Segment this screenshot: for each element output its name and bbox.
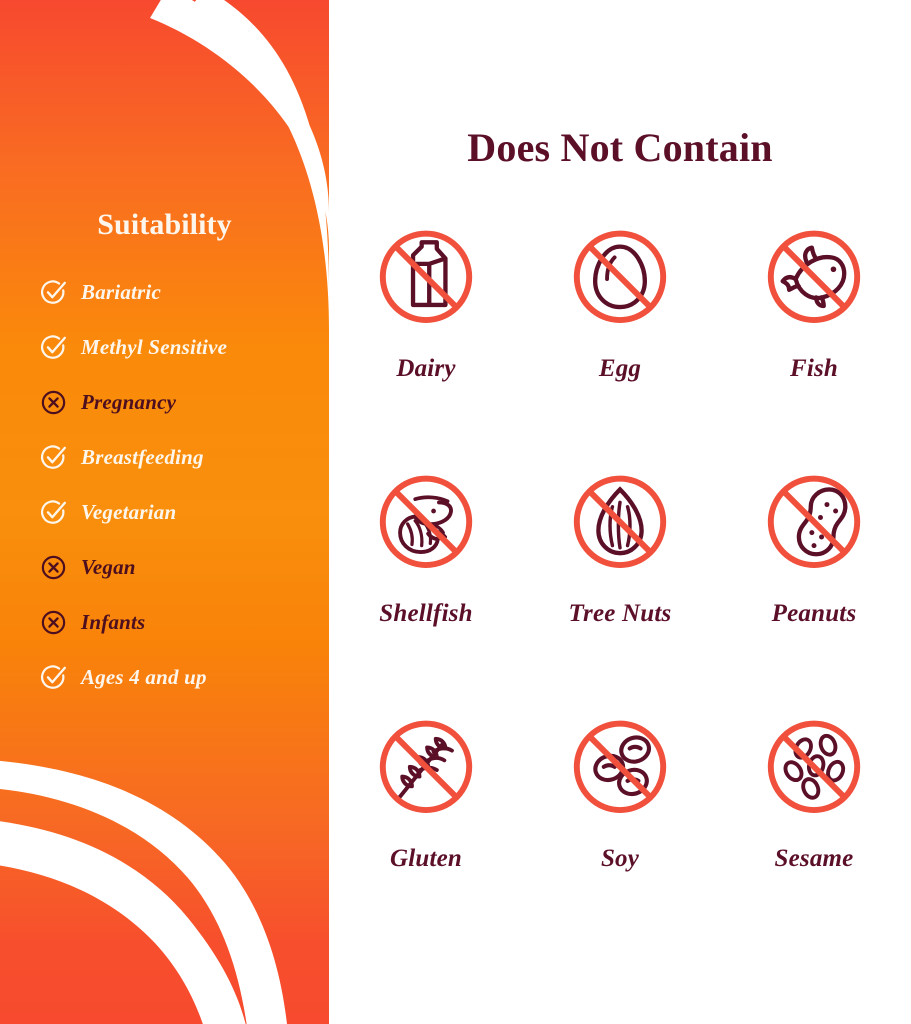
suitability-item-ages-4-and-up: Ages 4 and up [40,650,329,705]
allergen-cell-gluten: Gluten [329,715,523,960]
almond-icon [566,470,674,578]
allergen-cell-egg: Egg [523,225,717,470]
x-circle-icon [40,609,67,636]
allergen-label: Gluten [390,845,462,873]
allergen-cell-shellfish: Shellfish [329,470,523,715]
suitability-item-label: Pregnancy [81,390,176,415]
allergen-label: Sesame [775,845,854,873]
check-circle-icon [40,334,67,361]
check-circle-icon [40,499,67,526]
check-circle-icon [40,279,67,306]
shrimp-icon [372,470,480,578]
suitability-item-vegan: Vegan [40,540,329,595]
allergen-cell-peanuts: Peanuts [717,470,911,715]
suitability-item-pregnancy: Pregnancy [40,375,329,430]
suitability-item-label: Vegetarian [81,500,176,525]
allergen-cell-dairy: Dairy [329,225,523,470]
suitability-item-label: Bariatric [81,280,161,305]
allergen-label: Soy [601,845,639,873]
allergen-cell-tree-nuts: Tree Nuts [523,470,717,715]
swoosh-curve-bottom-inner [0,820,248,1024]
x-circle-icon [40,389,67,416]
suitability-item-label: Vegan [81,555,136,580]
allergen-label: Fish [790,355,838,383]
check-circle-icon [40,444,67,471]
fish-icon [760,225,868,333]
milk-carton-icon [372,225,480,333]
allergen-label: Tree Nuts [569,600,672,628]
does-not-contain-panel: Does Not Contain Dairy [329,0,911,1024]
suitability-item-label: Infants [81,610,145,635]
allergen-cell-sesame: Sesame [717,715,911,960]
soybean-icon [566,715,674,823]
allergen-label: Egg [599,355,641,383]
suitability-item-label: Ages 4 and up [81,665,207,690]
suitability-item-label: Methyl Sensitive [81,335,227,360]
allergen-label: Peanuts [772,600,857,628]
suitability-item-bariatric: Bariatric [40,265,329,320]
egg-icon [566,225,674,333]
allergen-label: Dairy [396,355,455,383]
swoosh-curve-bottom-outer [0,760,288,1024]
does-not-contain-heading: Does Not Contain [329,124,911,171]
suitability-item-label: Breastfeeding [81,445,204,470]
allergen-grid: Dairy Egg [329,225,911,960]
suitability-item-infants: Infants [40,595,329,650]
suitability-list: Bariatric Methyl Sensitive Pregnancy Bre… [40,265,329,705]
allergen-cell-soy: Soy [523,715,717,960]
suitability-heading: Suitability [0,208,329,242]
suitability-item-vegetarian: Vegetarian [40,485,329,540]
suitability-item-methyl-sensitive: Methyl Sensitive [40,320,329,375]
sesame-seeds-icon [760,715,868,823]
suitability-item-breastfeeding: Breastfeeding [40,430,329,485]
allergen-cell-fish: Fish [717,225,911,470]
x-circle-icon [40,554,67,581]
check-circle-icon [40,664,67,691]
peanut-icon [760,470,868,578]
wheat-icon [372,715,480,823]
allergen-label: Shellfish [379,600,473,628]
